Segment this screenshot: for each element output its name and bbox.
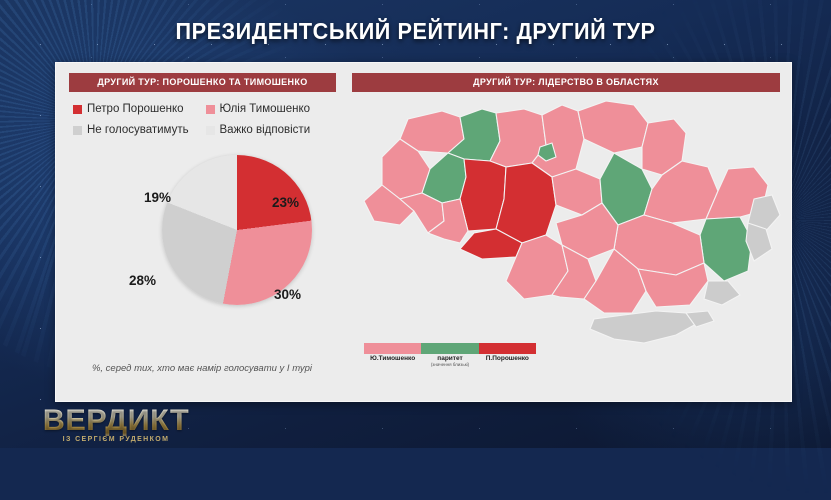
- pie-section: ДРУГИЙ ТУР: ПОРОШЕНКО ТА ТИМОШЕНКО Петро…: [56, 63, 348, 401]
- oblast-ternopil[interactable]: [422, 153, 466, 203]
- oblast-chernihiv[interactable]: [578, 101, 648, 153]
- map-section: ДРУГИЙ ТУР: ЛІДЕРСТВО В ОБЛАСТЯХ: [348, 63, 791, 401]
- map-legend-label-poroshenko: П.Порошенко: [479, 355, 536, 367]
- oblast-donetsk[interactable]: [700, 217, 752, 281]
- pie-label-tymoshenko: 30%: [274, 287, 301, 302]
- map-legend: Ю.Тимошенко паритет (значення близькі) П…: [364, 343, 536, 367]
- map-legend-parity-sub: (значення близькі): [421, 362, 478, 367]
- legend-item-poroshenko: Петро Порошенко: [73, 103, 206, 115]
- legend-swatch-tymoshenko: [206, 105, 215, 114]
- republic-crimea[interactable]: [590, 311, 698, 343]
- pie-chart-wrap: 23% 30% 28% 19%: [56, 155, 348, 355]
- map-legend-swatch-poroshenko: [479, 343, 536, 354]
- map-section-header: ДРУГИЙ ТУР: ЛІДЕРСТВО В ОБЛАСТЯХ: [352, 73, 780, 92]
- page-title: ПРЕЗИДЕНТСЬКИЙ РЕЙТИНГ: ДРУГИЙ ТУР: [25, 18, 806, 45]
- content-panel: ДРУГИЙ ТУР: ПОРОШЕНКО ТА ТИМОШЕНКО Петро…: [55, 62, 792, 402]
- legend-item-tymoshenko: Юлія Тимошенко: [206, 103, 339, 115]
- map-legend-parity-text: паритет: [437, 355, 462, 362]
- sea-azov-shape[interactable]: [704, 281, 740, 305]
- legend-label-hard-to-answer: Важко відповісти: [220, 124, 311, 136]
- map-legend-labels: Ю.Тимошенко паритет (значення близькі) П…: [364, 355, 536, 367]
- map-legend-swatch-parity: [421, 343, 478, 354]
- pie-label-hard-to-answer: 19%: [144, 190, 171, 205]
- logo-title: ВЕРДИКТ: [24, 404, 208, 438]
- map-legend-bars: [364, 343, 536, 354]
- oblast-vinnytsia[interactable]: [496, 163, 556, 243]
- pie-section-header: ДРУГИЙ ТУР: ПОРОШЕНКО ТА ТИМОШЕНКО: [69, 73, 336, 92]
- ukraine-map: [356, 99, 786, 349]
- legend-label-poroshenko: Петро Порошенко: [87, 103, 184, 115]
- map-legend-label-parity: паритет (значення близькі): [421, 355, 478, 367]
- legend-item-not-voting: Не голосуватимуть: [73, 124, 206, 136]
- pie-label-poroshenko: 23%: [272, 195, 299, 210]
- pie-chart: [162, 155, 312, 305]
- legend-swatch-hard-to-answer: [206, 126, 215, 135]
- map-wrap: Ю.Тимошенко паритет (значення близькі) П…: [348, 95, 791, 401]
- legend-label-tymoshenko: Юлія Тимошенко: [220, 103, 311, 115]
- channel-logo: ВЕРДИКТ ІЗ СЕРГІЄМ РУДЕНКОМ: [26, 404, 206, 443]
- map-legend-label-tymoshenko: Ю.Тимошенко: [364, 355, 421, 367]
- legend-swatch-poroshenko: [73, 105, 82, 114]
- map-legend-swatch-tymoshenko: [364, 343, 421, 354]
- legend-item-hard-to-answer: Важко відповісти: [206, 124, 339, 136]
- pie-footnote: %, серед тих, хто має намір голосувати у…: [56, 363, 348, 374]
- pie-legend: Петро Порошенко Юлія Тимошенко Не голосу…: [73, 103, 338, 145]
- pie-label-not-voting: 28%: [129, 273, 156, 288]
- legend-swatch-not-voting: [73, 126, 82, 135]
- legend-label-not-voting: Не голосуватимуть: [87, 124, 189, 136]
